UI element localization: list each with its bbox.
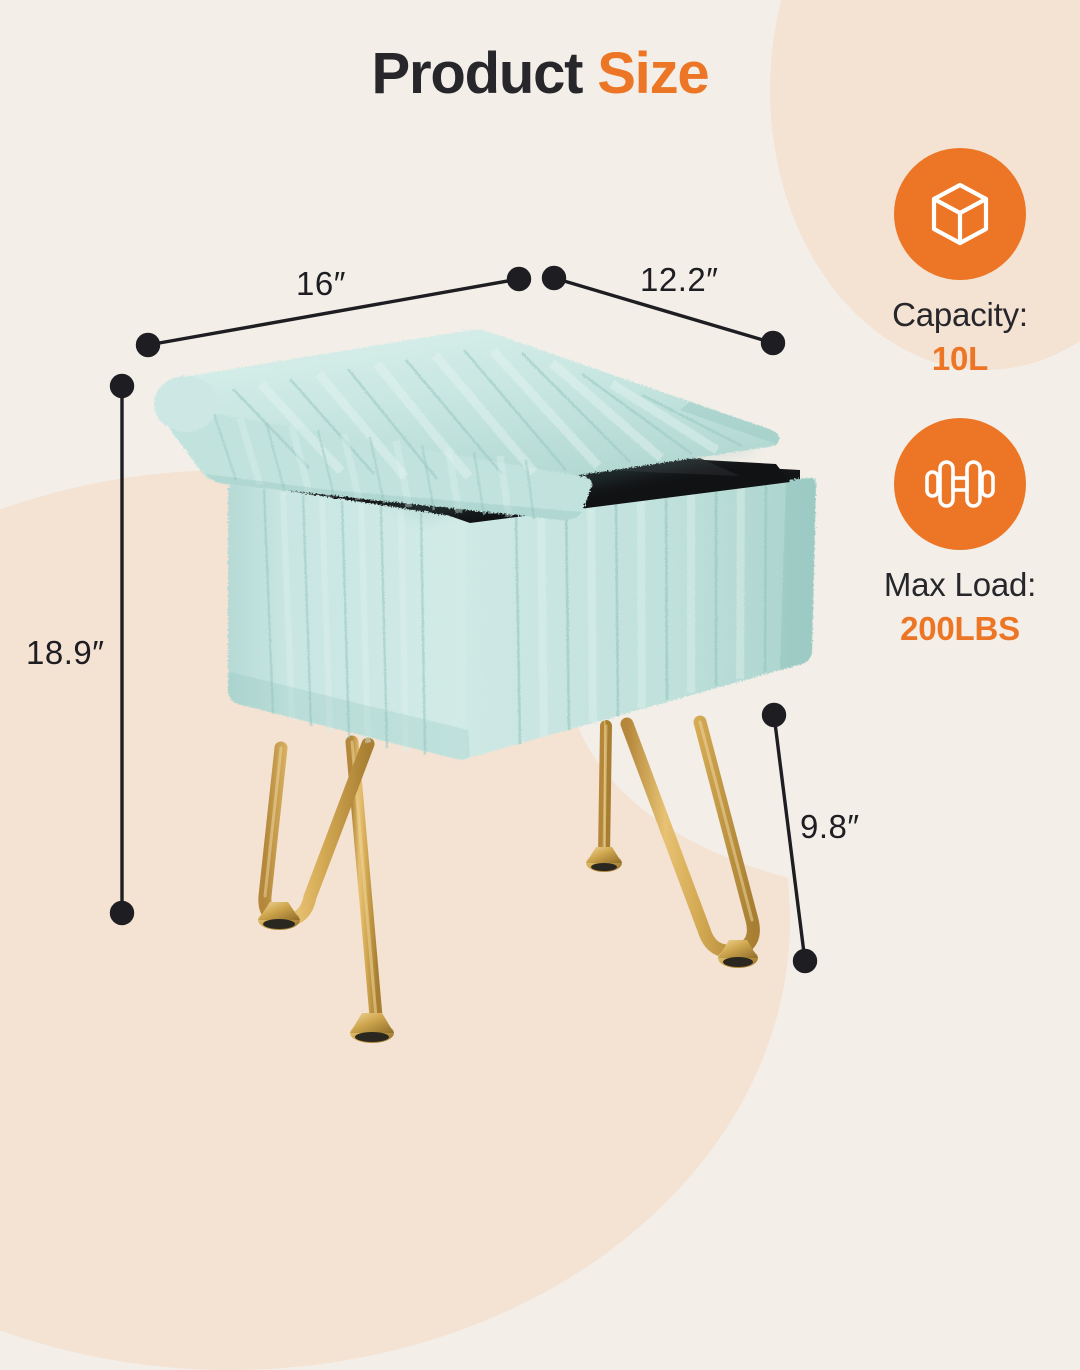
- dimension-line-height: [112, 376, 133, 924]
- infographic-canvas: Product Size 16″ 12.2″ 18.9″ 9.8″ Capaci…: [0, 0, 1080, 1080]
- dimension-line-depth: [544, 268, 784, 354]
- dimension-line-width: [138, 269, 530, 356]
- dimension-line-leg-height: [764, 705, 816, 972]
- dimension-lines-layer: [0, 0, 1080, 1080]
